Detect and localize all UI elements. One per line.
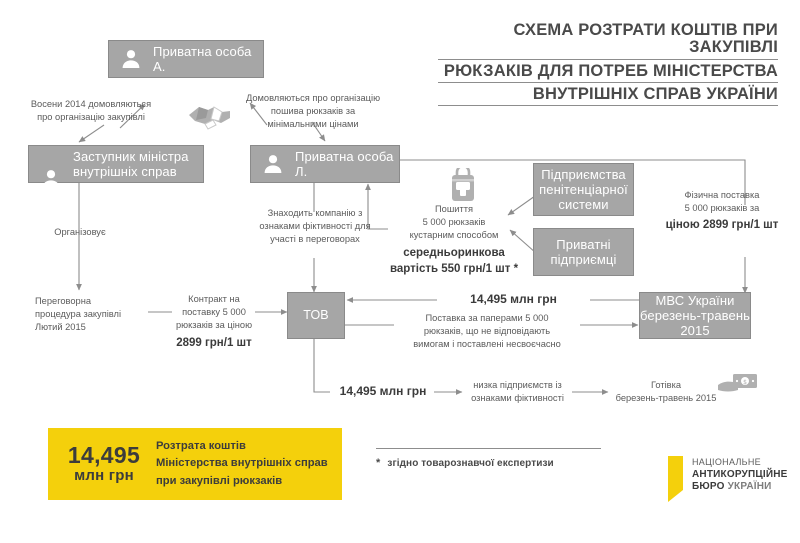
box-mvs[interactable]: МВС України березень-травень 2015 — [639, 292, 751, 339]
asterisk-icon: * — [376, 458, 380, 469]
page-title: СХЕМА РОЗТРАТИ КОШТІВ ПРИ ЗАКУПІВЛІ РЮКЗ… — [438, 22, 778, 106]
note-contract-amount: 2899 грн/1 шт — [172, 335, 256, 351]
box-mvs-label: МВС України березень-травень 2015 — [640, 293, 750, 339]
note-sewing: Пошиття 5 000 рюкзаків кустарним способо… — [386, 203, 522, 277]
box-private-entrepreneurs[interactable]: Приватні підприємці — [533, 228, 634, 276]
summary-amount-number: 14,495 — [52, 443, 156, 468]
title-line-2: РЮКЗАКІВ ДЛЯ ПОТРЕБ МІНІСТЕРСТВА — [438, 63, 778, 83]
logo-line-1: НАЦІОНАЛЬНЕ — [692, 457, 788, 469]
summary-amount: 14,495 млн грн — [48, 443, 156, 484]
note-negotiation-procedure: Переговорна процедура закупівлі Лютий 20… — [35, 295, 150, 335]
note-shell-companies: низка підприємств із ознаками фіктивност… — [462, 379, 573, 405]
note-paper-delivery: Поставка за паперами 5 000 рюкзаків, що … — [394, 312, 580, 352]
box-tov[interactable]: ТОВ — [287, 292, 345, 339]
title-line-1: СХЕМА РОЗТРАТИ КОШТІВ ПРИ ЗАКУПІВЛІ — [438, 22, 778, 60]
nabu-logo: НАЦІОНАЛЬНЕ АНТИКОРУПЦІЙНЕ БЮРО УКРАЇНИ — [668, 456, 788, 502]
footnote: * згідно товарознавчої експертизи — [376, 448, 601, 469]
box-penitentiary-enterprises[interactable]: Підприємства пенітенціарної системи — [533, 163, 634, 216]
note-organizes: Організовує — [35, 226, 125, 239]
nabu-logo-words: НАЦІОНАЛЬНЕ АНТИКОРУПЦІЙНЕ БЮРО УКРАЇНИ — [692, 456, 788, 494]
handshake-icon — [186, 98, 234, 137]
box-person-a[interactable]: Приватна особа А. — [108, 40, 264, 78]
backpack-icon — [447, 168, 479, 207]
footnote-text: згідно товарознавчої експертизи — [387, 458, 553, 469]
footnote-divider — [376, 448, 601, 449]
person-icon — [39, 152, 63, 176]
box-deputy-minister[interactable]: Заступник міністра внутрішніх справ — [28, 145, 204, 183]
box-deputy-minister-label: Заступник міністра внутрішніх справ — [73, 149, 189, 180]
note-physical-delivery: Фізична поставка 5 000 рюкзаків за ціною… — [652, 189, 792, 234]
note-sewing-agreement: Домовляються про організацію пошива рюкз… — [238, 92, 388, 132]
note-sewing-small: Пошиття 5 000 рюкзаків кустарним способо… — [410, 204, 499, 240]
summary-amount-unit: млн грн — [52, 468, 156, 484]
box-private-entrepreneurs-label: Приватні підприємці — [551, 237, 617, 268]
logo-line-3-light: УКРАЇНИ — [728, 481, 772, 492]
note-physical-delivery-small: Фізична поставка 5 000 рюкзаків за — [685, 190, 760, 213]
note-autumn-agreement: Восени 2014 домовляються про організацію… — [18, 98, 164, 124]
summary-description: Розтрата коштів Міністерства внутрішніх … — [156, 438, 328, 489]
summary-banner: 14,495 млн грн Розтрата коштів Міністерс… — [48, 428, 342, 500]
box-person-l-label: Приватна особа Л. — [295, 149, 399, 180]
note-transfer-amount: 14,495 млн грн — [331, 384, 435, 399]
logo-line-3: БЮРО УКРАЇНИ — [692, 481, 788, 494]
svg-text:$: $ — [743, 379, 747, 386]
box-person-a-label: Приватна особа А. — [153, 44, 263, 75]
note-cash: Готівка березень-травень 2015 — [601, 379, 731, 405]
note-sewing-value: вартість 550 грн/1 шт * — [386, 261, 522, 277]
note-contract-small: Контракт на поставку 5 000 рюкзаків за ц… — [176, 294, 252, 330]
person-icon — [261, 152, 285, 176]
note-physical-delivery-price: ціною 2899 грн/1 шт — [652, 217, 792, 233]
note-finds-company: Знаходить компанію з ознаками фіктивност… — [251, 207, 379, 247]
note-contract: Контракт на поставку 5 000 рюкзаків за ц… — [172, 293, 256, 351]
person-icon — [119, 47, 143, 71]
logo-line-2: АНТИКОРУПЦІЙНЕ — [692, 469, 788, 482]
footnote-text-row: * згідно товарознавчої експертизи — [376, 458, 601, 469]
box-penitentiary-label: Підприємства пенітенціарної системи — [539, 167, 628, 213]
box-tov-label: ТОВ — [303, 308, 328, 323]
summary-desc-line-1: Розтрата коштів — [156, 438, 328, 455]
box-person-l[interactable]: Приватна особа Л. — [250, 145, 400, 183]
summary-desc-line-3: при закупівлі рюкзаків — [156, 473, 328, 490]
note-payment-amount: 14,495 млн грн — [437, 292, 590, 307]
title-line-3: ВНУТРІШНІХ СПРАВ УКРАЇНИ — [438, 86, 778, 106]
infographic-canvas: СХЕМА РОЗТРАТИ КОШТІВ ПРИ ЗАКУПІВЛІ РЮКЗ… — [0, 0, 800, 543]
nabu-logo-mark — [668, 456, 683, 502]
summary-desc-line-2: Міністерства внутрішніх справ — [156, 455, 328, 472]
logo-line-3-bold: БЮРО — [692, 481, 728, 492]
note-sewing-avgprice: середньоринкова — [386, 245, 522, 261]
